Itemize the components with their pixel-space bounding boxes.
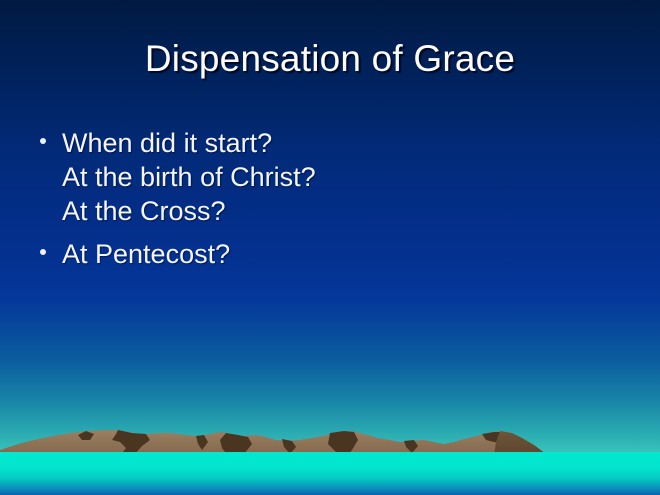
slide-title: Dispensation of Grace bbox=[0, 36, 660, 82]
bullet-dot-icon bbox=[40, 249, 46, 255]
slide-body: When did it start? At the birth of Chris… bbox=[34, 126, 614, 271]
bullet-dot-icon bbox=[40, 138, 46, 144]
water-band bbox=[0, 452, 660, 495]
bullet-item-1: When did it start? At the birth of Chris… bbox=[34, 126, 614, 228]
bullet-1-line-1: When did it start? bbox=[62, 126, 614, 160]
bullet-2-line-1: At Pentecost? bbox=[62, 237, 614, 271]
bullet-item-2: At Pentecost? bbox=[34, 237, 614, 271]
presentation-slide: Dispensation of Grace When did it start?… bbox=[0, 0, 660, 495]
bullet-1-line-2: At the birth of Christ? bbox=[62, 160, 614, 194]
bullet-1-line-3: At the Cross? bbox=[62, 194, 614, 228]
